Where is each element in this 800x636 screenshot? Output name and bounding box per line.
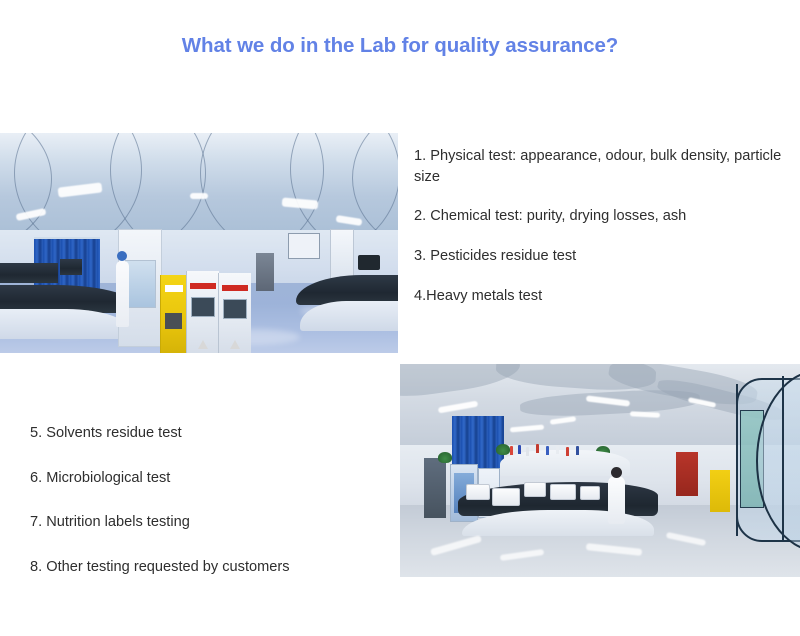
bench-instrument: [492, 488, 520, 506]
panorama-two-scene: [400, 364, 800, 577]
page-title: What we do in the Lab for quality assura…: [0, 34, 800, 58]
reagent-bottle: [546, 446, 549, 455]
bench-instrument: [580, 486, 600, 500]
list-item: 5. Solvents residue test: [30, 423, 395, 444]
gas-cabinet: [186, 271, 219, 353]
list-item: 4.Heavy metals test: [414, 286, 800, 307]
reagent-bottle: [526, 447, 529, 456]
technician-cap: [117, 251, 127, 261]
fume-hood-sash: [125, 260, 156, 308]
bench-instrument: [550, 484, 576, 500]
bench-equipment: [60, 259, 82, 275]
reagent-bottle: [566, 447, 569, 456]
test-list-bottom: 5. Solvents residue test 6. Microbiologi…: [30, 423, 395, 602]
computer-monitor: [358, 255, 380, 270]
yellow-safety-cabinet: [160, 275, 187, 353]
list-item: 8. Other testing requested by customers: [30, 557, 395, 578]
storage-cabinet: [256, 253, 274, 291]
gas-cabinet: [218, 273, 251, 353]
reagent-bottle: [576, 446, 579, 455]
yellow-cart: [710, 470, 730, 512]
lab-technician: [608, 476, 625, 524]
storage-unit: [424, 458, 446, 518]
potted-plant: [496, 444, 510, 455]
test-list-right: 1. Physical test: appearance, odour, bul…: [414, 146, 800, 326]
bench-equipment: [0, 263, 58, 283]
reagent-bottle: [536, 444, 539, 453]
glass-mullion: [736, 384, 738, 536]
reagent-bottle: [556, 445, 559, 454]
list-item: 1. Physical test: appearance, odour, bul…: [414, 146, 800, 187]
red-door: [676, 452, 698, 496]
bench-instrument: [466, 484, 490, 500]
list-item: 3. Pesticides residue test: [414, 246, 800, 267]
lab-panorama-benchroom-image: [400, 364, 800, 577]
potted-plant: [438, 452, 452, 463]
list-item: 7. Nutrition labels testing: [30, 512, 395, 533]
cabinet-window: [191, 297, 215, 317]
glass-mullion: [782, 376, 784, 542]
list-item: 6. Microbiological test: [30, 468, 395, 489]
list-item: 2. Chemical test: purity, drying losses,…: [414, 206, 800, 227]
lab-technician: [116, 261, 129, 327]
technician-head: [611, 467, 622, 478]
cabinet-window: [223, 299, 247, 319]
reagent-bottle: [518, 445, 521, 454]
bench-instrument: [524, 482, 546, 497]
wall-poster: [288, 233, 320, 259]
hazard-triangle-icon: [230, 340, 240, 349]
panorama-one-scene: [0, 133, 398, 353]
warning-label: [222, 285, 248, 291]
lab-panorama-cleanroom-image: [0, 133, 398, 353]
hazard-triangle-icon: [198, 340, 208, 349]
reagent-bottle: [510, 446, 513, 455]
ceiling-light: [190, 193, 208, 199]
warning-label: [190, 283, 216, 289]
lab-door: [330, 229, 354, 279]
